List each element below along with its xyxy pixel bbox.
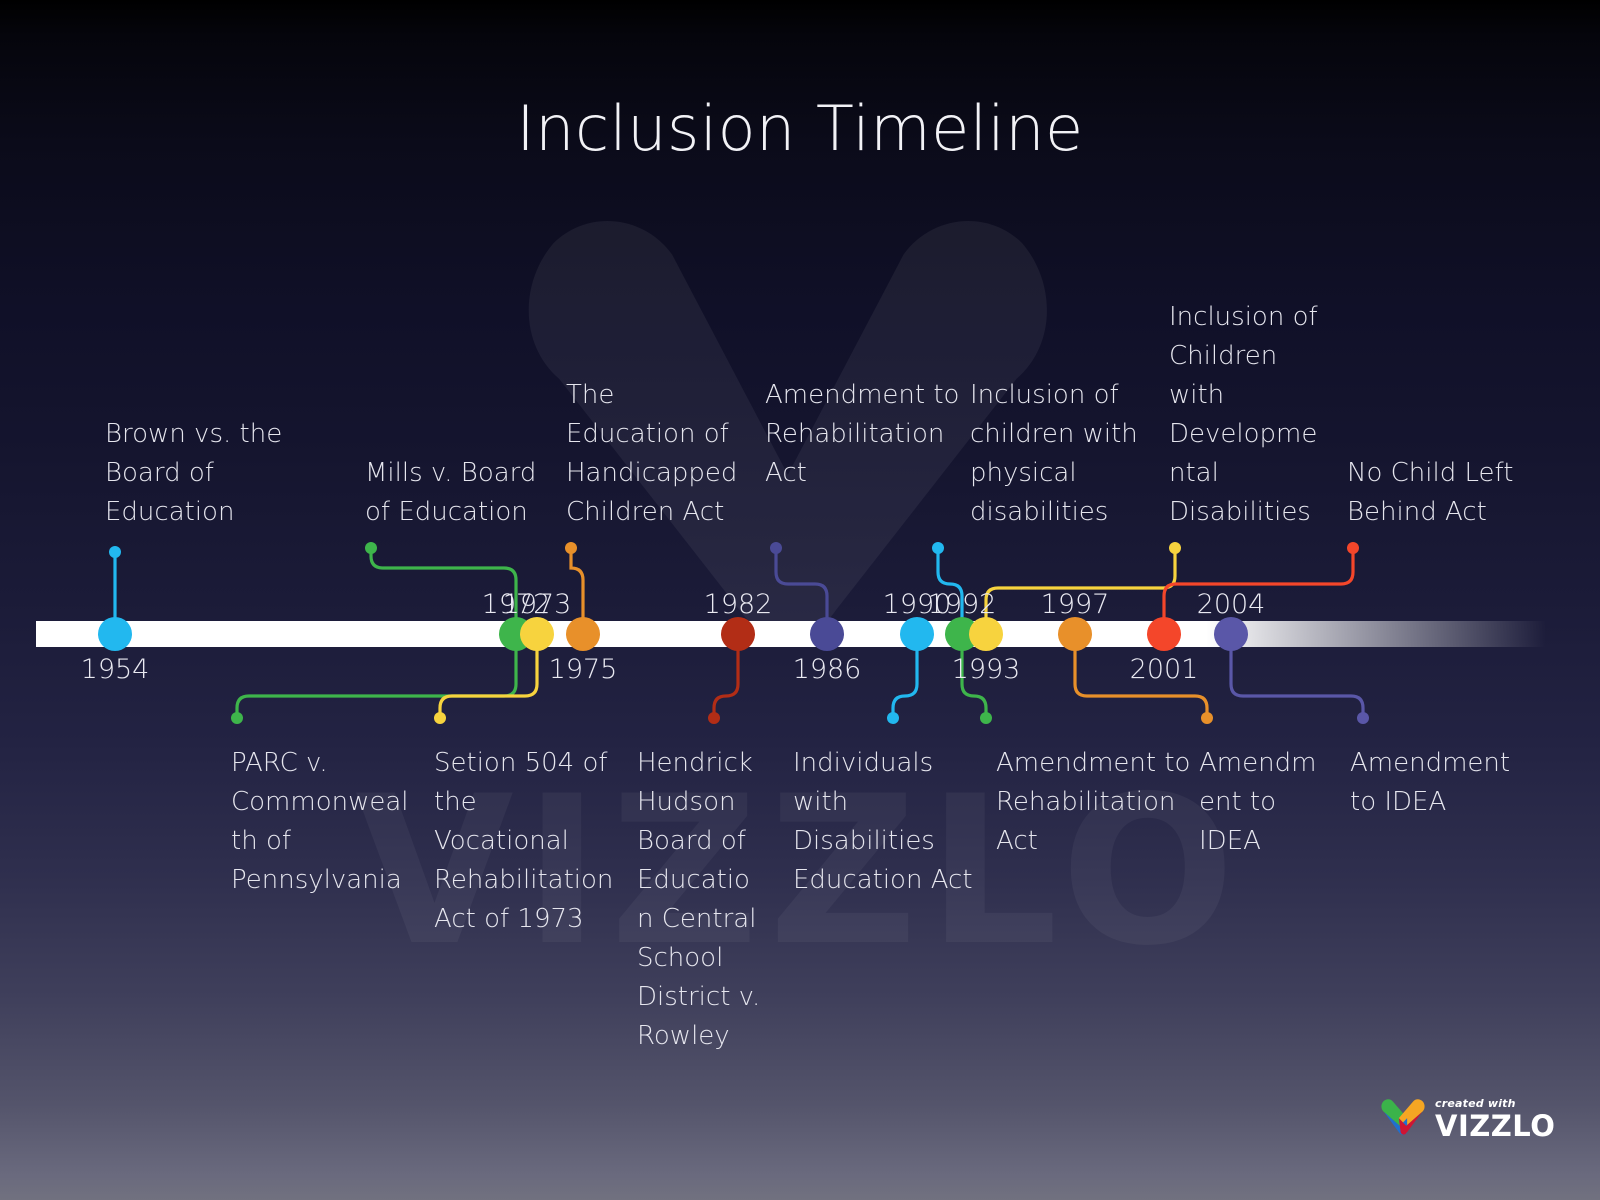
timeline-marker-1993[interactable] [969, 617, 1003, 651]
label-amendment-idea-2001: Amendment to IDEA [1199, 744, 1329, 861]
vizzlo-check-icon [1380, 1096, 1426, 1142]
timeline-marker-1954[interactable] [98, 617, 132, 651]
connector-1982-endpoint [708, 712, 720, 724]
year-1982: 1982 [704, 589, 773, 620]
year-1997: 1997 [1041, 589, 1110, 620]
year-1986: 1986 [793, 654, 862, 685]
label-no-child-left-behind: No Child Left Behind Act [1347, 454, 1532, 532]
vizzlo-logo: created with VIZZLO [1380, 1088, 1550, 1150]
timeline-axis [36, 621, 1546, 647]
timeline-marker-1990[interactable] [900, 617, 934, 651]
year-1993: 1993 [952, 654, 1021, 685]
timeline-marker-1982[interactable] [721, 617, 755, 651]
connector-1990-endpoint [887, 712, 899, 724]
connector-1997-endpoint [1169, 542, 1181, 554]
year-1975: 1975 [549, 654, 618, 685]
year-1954: 1954 [81, 654, 150, 685]
label-hendrick-hudson: Hendrick Hudson Board of Education Centr… [637, 744, 762, 1056]
label-section-504: Setion 504 of the Vocational Rehabilitat… [434, 744, 619, 939]
connector-1986-endpoint [770, 542, 782, 554]
timeline-marker-1975[interactable] [566, 617, 600, 651]
page-title: Inclusion Timeline [0, 92, 1600, 165]
timeline-marker-2004[interactable] [1214, 617, 1248, 651]
label-amendment-idea-last: Amendment to IDEA [1350, 744, 1535, 822]
year-2004: 2004 [1197, 589, 1266, 620]
connector-last-endpoint [1357, 712, 1369, 724]
logo-created-with-text: created with [1435, 1098, 1555, 1109]
label-education-handicapped: The Education of Handicapped Children Ac… [566, 376, 751, 532]
timeline-marker-1997[interactable] [1058, 617, 1092, 651]
connector-1972-endpoint [365, 542, 377, 554]
connector-1971-endpoint [231, 712, 243, 724]
logo-brand-text: VIZZLO [1435, 1112, 1555, 1141]
connector-2004-endpoint [1347, 542, 1359, 554]
timeline-marker-1973[interactable] [520, 617, 554, 651]
year-1992: 1992 [928, 589, 997, 620]
label-mills-v-board: Mills v. Board of Education [365, 454, 555, 532]
connector-1992-endpoint [932, 542, 944, 554]
timeline-marker-2001[interactable] [1147, 617, 1181, 651]
label-inclusion-physical: Inclusion of children with physical disa… [970, 376, 1155, 532]
label-idea-1990: Individuals with Disabilities Education … [793, 744, 983, 900]
connector-1993-endpoint [980, 712, 992, 724]
label-brown-v-board: Brown vs. the Board of Education [105, 415, 300, 532]
connector-1973-endpoint [434, 712, 446, 724]
label-amendment-rehab-1986: Amendment to Rehabilitation Act [765, 376, 960, 493]
connector-1954-endpoint [109, 546, 121, 558]
timeline-marker-1986[interactable] [810, 617, 844, 651]
label-amendment-rehab-1993: Amendment to Rehabilitation Act [996, 744, 1191, 861]
year-1973: 1973 [503, 589, 572, 620]
connector-2001-endpoint [1201, 712, 1213, 724]
label-parc-v-commonwealth: PARC v. Commonwealth of Pennsylvania [231, 744, 416, 900]
year-2001: 2001 [1130, 654, 1199, 685]
connector-1975-endpoint [565, 542, 577, 554]
label-inclusion-developmental: Inclusion of Children with Developmental… [1169, 298, 1329, 532]
timeline-canvas: VIZZLO Inclusion Timeline 19541972197319… [0, 0, 1600, 1200]
connector-layer [0, 0, 1600, 1200]
